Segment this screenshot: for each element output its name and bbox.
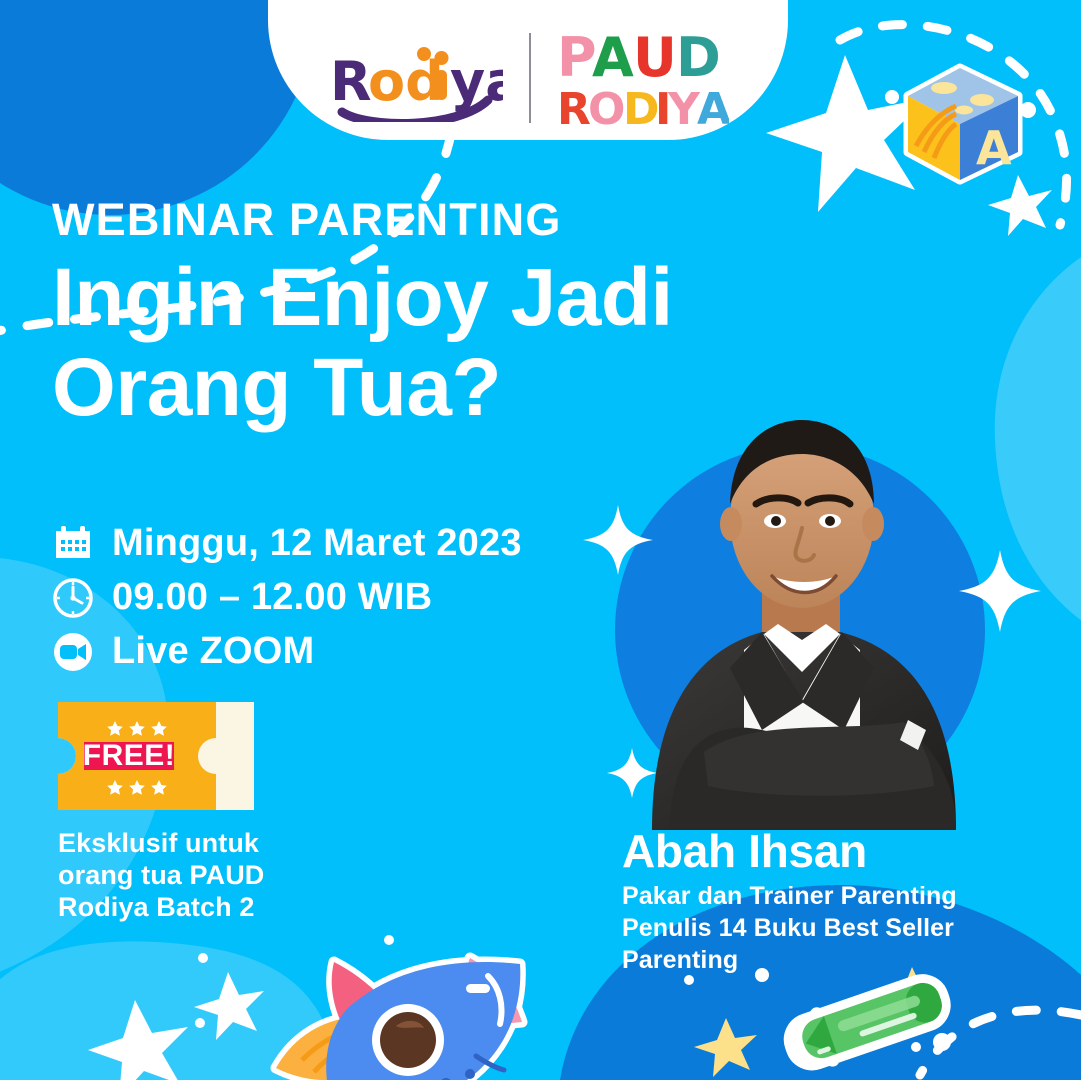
paud-rodiya-logo: P A U D R O D I Y A PAUD RODIYA: [557, 26, 729, 130]
alphabet-block-letter: A: [976, 121, 1012, 175]
status-badge: FREE!: [58, 702, 254, 810]
ticket-note-line-3: Rodiya Batch 2: [58, 892, 318, 924]
svg-text:O: O: [588, 84, 625, 130]
detail-text-platform: Live ZOOM: [112, 630, 314, 673]
ticket-note-line-2: orang tua PAUD: [58, 860, 318, 892]
ticket-note: Eksklusif untuk orang tua PAUD Rodiya Ba…: [58, 828, 318, 924]
rodiya-logo: R od ya Rodiya: [328, 34, 503, 122]
webinar-poster: R od ya Rodiya P A U D: [0, 0, 1081, 1080]
svg-text:R: R: [557, 84, 591, 130]
speaker-info-block: Abah Ihsan Pakar dan Trainer Parenting P…: [622, 828, 1062, 976]
speaker-role-line-1: Pakar dan Trainer Parenting: [622, 880, 1062, 912]
logo-row: R od ya Rodiya P A U D: [328, 22, 729, 134]
ticket-note-line-1: Eksklusif untuk: [58, 828, 318, 860]
clock-icon: [52, 577, 94, 619]
free-ticket-block: FREE! Eksklusif untuk orang tua PAUD Rod…: [58, 702, 318, 924]
svg-text:od: od: [368, 50, 444, 113]
svg-text:ya: ya: [450, 50, 503, 113]
svg-text:D: D: [676, 26, 721, 89]
dot-6: [384, 935, 394, 945]
calendar-icon: [52, 523, 94, 565]
dot-3: [198, 953, 208, 963]
event-details-list: Minggu, 12 Maret 2023 09.00 – 12.00 WIB: [52, 522, 612, 684]
speaker-name: Abah Ihsan: [622, 828, 1062, 874]
title-line-1: Ingin Enjoy Jadi: [52, 253, 792, 343]
header-logo-panel: R od ya Rodiya P A U D: [268, 0, 788, 140]
video-camera-icon: [52, 631, 94, 673]
svg-text:U: U: [633, 26, 677, 89]
headline-block: WEBINAR PARENTING Ingin Enjoy Jadi Orang…: [52, 196, 792, 434]
kicker-text: WEBINAR PARENTING: [52, 196, 792, 243]
free-label: FREE!: [84, 740, 174, 772]
svg-text:Y: Y: [667, 84, 701, 130]
detail-row-date: Minggu, 12 Maret 2023: [52, 522, 612, 565]
detail-text-date: Minggu, 12 Maret 2023: [112, 522, 522, 565]
rocket-icon: [238, 948, 538, 1080]
dot-7: [684, 975, 694, 985]
alphabet-block-icon: A: [898, 58, 1028, 188]
dot-5: [195, 1018, 205, 1028]
detail-text-time: 09.00 – 12.00 WIB: [112, 576, 432, 619]
detail-row-time: 09.00 – 12.00 WIB: [52, 576, 612, 619]
dot-1: [885, 90, 899, 104]
svg-text:R: R: [330, 50, 372, 113]
speaker-photo: [612, 400, 992, 830]
svg-text:A: A: [697, 84, 729, 130]
detail-row-platform: Live ZOOM: [52, 630, 612, 673]
crayon-icon: [760, 965, 970, 1080]
svg-text:A: A: [592, 26, 634, 89]
logo-divider: [529, 33, 531, 123]
svg-text:P: P: [557, 26, 597, 89]
